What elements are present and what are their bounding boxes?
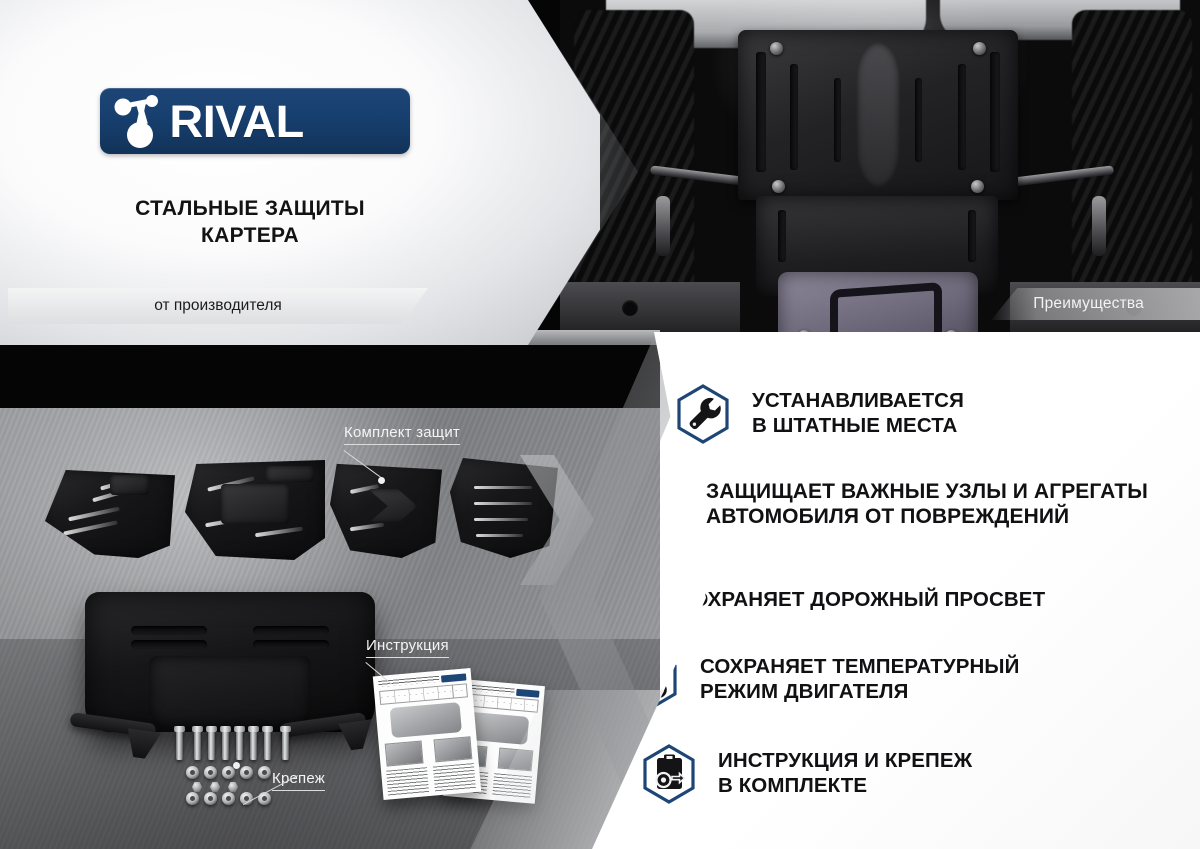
bolt: [208, 730, 215, 760]
advantage-label: УСТАНАВЛИВАЕТСЯ В ШТАТНЫЕ МЕСТА: [752, 389, 964, 438]
bolt: [264, 730, 271, 760]
washer: [204, 792, 217, 805]
nut: [210, 782, 220, 792]
link-rod-right: [1092, 196, 1106, 256]
black-backdrop-mid: [0, 345, 660, 408]
advantage-item-protect: ЗАЩИЩАЕТ ВАЖНЫЕ УЗЛЫ И АГРЕГАТЫ АВТОМОБИ…: [630, 474, 1148, 534]
advantage-label: СОХРАНЯЕТ ТЕМПЕРАТУРНЫЙ РЕЖИМ ДВИГАТЕЛЯ: [700, 655, 1019, 704]
rival-logo: RIVAL: [100, 88, 410, 154]
plate-rib: [990, 52, 1000, 172]
advantage-item-clearance: СОХРАНЯЕТ ДОРОЖНЫЙ ПРОСВЕТ: [602, 570, 1045, 630]
plate-rib: [958, 64, 966, 170]
washer: [240, 766, 253, 779]
molecule-icon: [110, 92, 170, 150]
washer: [204, 766, 217, 779]
plate-rib: [756, 52, 766, 172]
advantage-label: СОХРАНЯЕТ ДОРОЖНЫЙ ПРОСВЕТ: [678, 588, 1045, 613]
advantage-item-temperature: СОХРАНЯЕТ ТЕМПЕРАТУРНЫЙ РЕЖИМ ДВИГАТЕЛЯ: [624, 650, 1019, 710]
bolt: [236, 730, 243, 760]
instruction-callout-label: Инструкция: [366, 637, 449, 658]
plate-rib: [915, 78, 922, 162]
promo-banner: Преимущества RIVAL СТАЛЬНЫЕ ЗАЩИТЫ КАРТЕ…: [0, 0, 1200, 849]
advantages-badge: Преимущества: [991, 288, 1200, 320]
washer: [186, 766, 199, 779]
clipboard-hardware-icon: [642, 744, 696, 804]
link-rod-left: [656, 196, 670, 256]
nut: [228, 782, 238, 792]
plate-slot: [253, 640, 328, 649]
sheet-logo-tag: [441, 673, 467, 683]
logo-wordmark: RIVAL: [169, 99, 303, 144]
plate-slot: [131, 640, 206, 649]
bolt: [194, 730, 201, 760]
frame-hole: [622, 300, 638, 316]
lower-skid-plate: [778, 272, 978, 340]
plate-slot: [253, 626, 328, 635]
bolt: [222, 730, 229, 760]
sheet-text-block: [386, 768, 429, 796]
sheet-text-block: [433, 763, 476, 791]
hardware-callout-dot: [233, 762, 240, 769]
advantage-item-install: УСТАНАВЛИВАЕТСЯ В ШТАТНЫЕ МЕСТА: [676, 384, 964, 444]
plate-rib: [778, 210, 786, 262]
washer: [222, 792, 235, 805]
hero-subtitle: от производителя: [154, 297, 282, 315]
washer: [186, 792, 199, 805]
sheet-photo: [433, 736, 472, 761]
washer: [258, 766, 271, 779]
hero-subtitle-ribbon: от производителя: [8, 288, 428, 324]
plate-rib: [968, 210, 976, 262]
kit-callout-dot: [378, 477, 385, 484]
wrench-icon: [676, 384, 730, 444]
plate-bolt: [772, 180, 785, 193]
kit-callout-label: Комплект защит: [344, 424, 460, 445]
advantage-item-kit: ИНСТРУКЦИЯ И КРЕПЕЖ В КОМПЛЕКТЕ: [642, 744, 972, 804]
tire-right: [1072, 10, 1192, 310]
plate-slot: [131, 626, 206, 635]
upper-skid-plate: [738, 30, 1018, 200]
sheet-photo: [385, 741, 424, 766]
advantage-label: ЗАЩИЩАЕТ ВАЖНЫЕ УЗЛЫ И АГРЕГАТЫ АВТОМОБИ…: [706, 479, 1148, 529]
bolt: [176, 730, 183, 760]
bolt: [282, 730, 289, 760]
sheet-logo-tag: [516, 688, 540, 697]
page-title-line2: КАРТЕРА: [0, 223, 500, 250]
plate-bolt: [973, 42, 986, 55]
instruction-sheet-front: [373, 668, 481, 800]
nut: [192, 782, 202, 792]
hardware-callout-label: Крепеж: [272, 770, 325, 791]
main-skid-plate: [85, 592, 375, 732]
vehicle-underbody-photo: Преимущества: [560, 0, 1200, 340]
sheet-spec-table: [379, 683, 468, 704]
plate-rib: [790, 64, 798, 170]
bolt: [250, 730, 257, 760]
plate-bolt: [971, 180, 984, 193]
plate-bolt: [770, 42, 783, 55]
advantage-label: ИНСТРУКЦИЯ И КРЕПЕЖ В КОМПЛЕКТЕ: [718, 749, 972, 798]
page-title: СТАЛЬНЫЕ ЗАЩИТЫ КАРТЕРА: [0, 196, 500, 250]
plate-rib: [834, 78, 841, 162]
sheet-diagram: [389, 703, 462, 739]
page-title-line1: СТАЛЬНЫЕ ЗАЩИТЫ: [0, 196, 500, 223]
